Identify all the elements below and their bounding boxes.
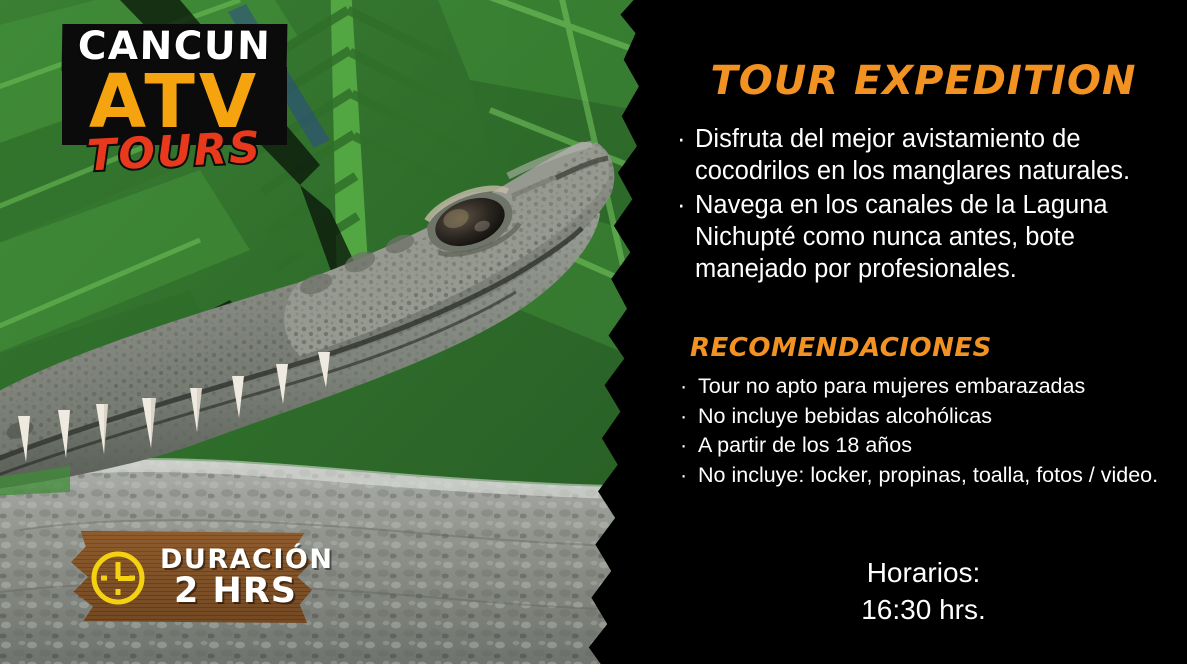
- bullet-icon: ·: [680, 372, 687, 401]
- logo-text-tours: TOURS: [61, 125, 288, 180]
- logo-text-cancun: CANCUN: [62, 24, 288, 71]
- list-item: · Navega en los canales de la Laguna Nic…: [671, 190, 1171, 286]
- clock-icon: [88, 548, 148, 608]
- feature-text: Navega en los canales de la Laguna Nichu…: [695, 191, 1108, 283]
- recommendations-list: · Tour no apto para mujeres embarazadas …: [676, 372, 1176, 490]
- schedule-label: Horarios:: [660, 554, 1187, 591]
- duration-value: 2 HRS: [174, 574, 333, 609]
- brand-logo[interactable]: CANCUN ATV TOURS: [62, 24, 287, 174]
- duration-badge-content: DURACIÓN 2 HRS: [66, 531, 312, 623]
- recommendation-text: No incluye bebidas alcohólicas: [698, 404, 992, 428]
- list-item: · A partir de los 18 años: [676, 431, 1176, 460]
- list-item: · Disfruta del mejor avistamiento de coc…: [671, 124, 1171, 188]
- duration-badge: DURACIÓN 2 HRS: [66, 531, 312, 623]
- duration-text-block: DURACIÓN 2 HRS: [160, 546, 333, 609]
- bullet-icon: ·: [680, 461, 687, 490]
- info-panel: TOUR EXPEDITION · Disfruta del mejor avi…: [660, 0, 1187, 664]
- page-title: TOUR EXPEDITION: [660, 58, 1187, 104]
- feature-list: · Disfruta del mejor avistamiento de coc…: [671, 124, 1171, 287]
- bullet-icon: ·: [677, 124, 686, 156]
- list-item: · No incluye bebidas alcohólicas: [676, 402, 1176, 431]
- bullet-icon: ·: [680, 431, 687, 460]
- duration-label: DURACIÓN: [160, 546, 333, 573]
- schedule-block: Horarios: 16:30 hrs.: [660, 554, 1187, 628]
- tour-poster: CANCUN ATV TOURS DURACIÓN 2 HRS TOUR EXP…: [0, 0, 1187, 664]
- schedule-time: 16:30 hrs.: [660, 591, 1187, 628]
- bullet-icon: ·: [677, 190, 686, 222]
- recommendation-text: Tour no apto para mujeres embarazadas: [698, 374, 1085, 398]
- recommendation-text: No incluye: locker, propinas, toalla, fo…: [698, 463, 1158, 487]
- recommendation-text: A partir de los 18 años: [698, 433, 912, 457]
- feature-text: Disfruta del mejor avistamiento de cocod…: [695, 125, 1130, 185]
- list-item: · No incluye: locker, propinas, toalla, …: [676, 461, 1176, 490]
- recommendations-heading: RECOMENDACIONES: [690, 333, 992, 363]
- list-item: · Tour no apto para mujeres embarazadas: [676, 372, 1176, 401]
- bullet-icon: ·: [680, 402, 687, 431]
